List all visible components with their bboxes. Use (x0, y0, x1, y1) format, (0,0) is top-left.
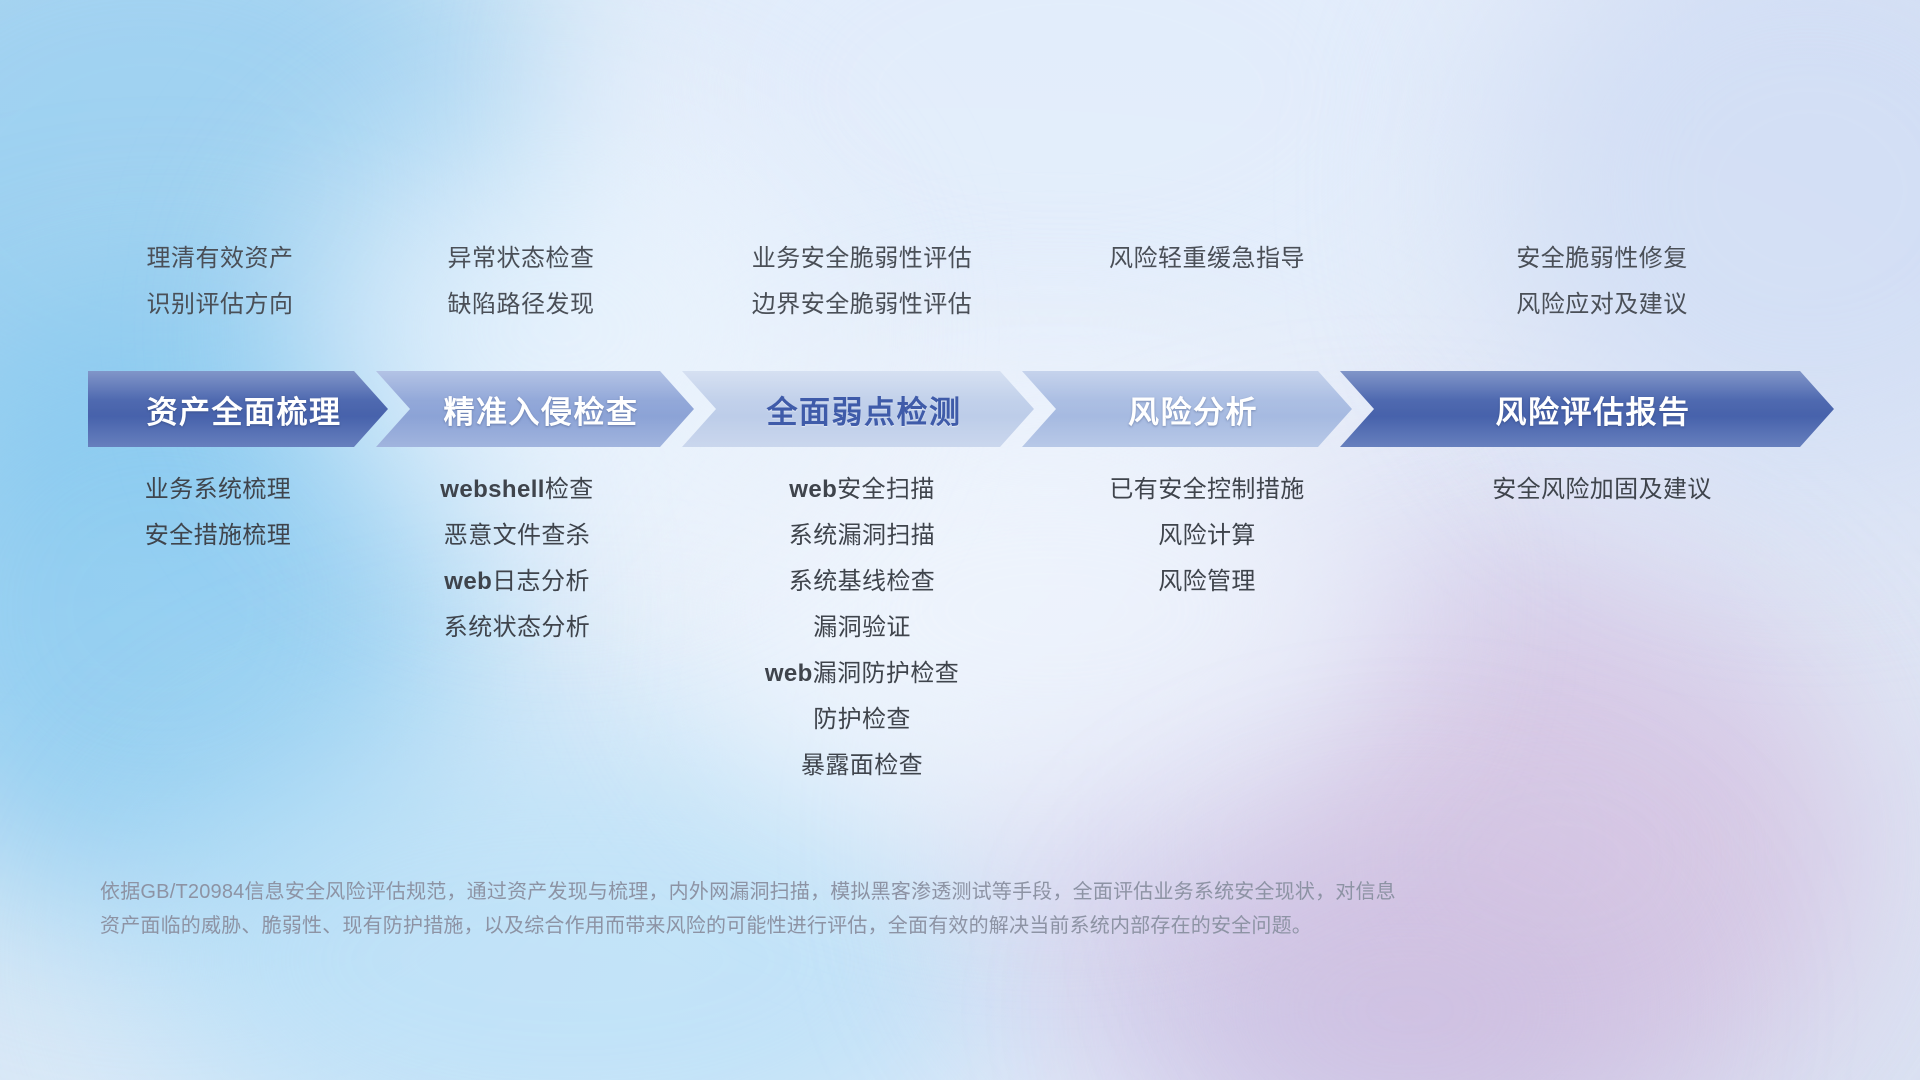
top-annotation-item: 风险轻重缓急指导 (1042, 236, 1372, 282)
footer-note: 依据GB/T20984信息安全风险评估规范，通过资产发现与梳理，内外网漏洞扫描，… (100, 875, 1640, 943)
bottom-detail-text: 漏洞验证 (813, 614, 911, 641)
footer-note-line: 资产面临的威胁、脆弱性、现有防护措施，以及综合作用而带来风险的可能性进行评估，全… (100, 909, 1640, 943)
bottom-detail-text: 安全风险加固及建议 (1492, 476, 1712, 503)
bottom-detail-item: 业务系统梳理 (82, 467, 354, 513)
top-annotation-item: 异常状态检查 (360, 236, 682, 282)
bottom-details-stage-5: 安全风险加固及建议 (1372, 467, 1832, 789)
bottom-detail-prefix: web (765, 660, 813, 687)
bottom-detail-item: 系统漏洞扫描 (682, 513, 1042, 559)
diagram-canvas: 理清有效资产 识别评估方向 异常状态检查 缺陷路径发现 业务安全脆弱性评估 边界… (0, 0, 1920, 1080)
bottom-detail-item: 暴露面检查 (682, 743, 1042, 789)
bottom-detail-item: 系统状态分析 (356, 605, 678, 651)
top-annotations-row: 理清有效资产 识别评估方向 异常状态检查 缺陷路径发现 业务安全脆弱性评估 边界… (88, 236, 1832, 328)
top-annotation-item: 安全脆弱性修复 (1372, 236, 1832, 282)
bottom-detail-text: 暴露面检查 (801, 752, 923, 779)
top-annotation-item: 边界安全脆弱性评估 (682, 282, 1042, 328)
bottom-detail-text: 已有安全控制措施 (1109, 476, 1304, 503)
chevron-stage-5[interactable]: 风险评估报告 (1340, 371, 1834, 447)
bottom-detail-item: 恶意文件查杀 (356, 513, 678, 559)
chevron-stage-2[interactable]: 精准入侵检查 (376, 371, 694, 447)
bottom-detail-text: 漏洞防护检查 (813, 660, 959, 687)
bottom-detail-text: 业务系统梳理 (145, 476, 291, 503)
top-annotation-item: 理清有效资产 (84, 236, 356, 282)
top-annotation-item: 风险应对及建议 (1372, 282, 1832, 328)
bottom-details-row: 业务系统梳理安全措施梳理 webshell检查恶意文件查杀web日志分析系统状态… (88, 467, 1832, 789)
top-annotation-item: 缺陷路径发现 (360, 282, 682, 328)
bottom-detail-text: 系统状态分析 (444, 614, 590, 641)
top-annotations-stage-4: 风险轻重缓急指导 (1042, 236, 1372, 328)
top-annotations-stage-2: 异常状态检查 缺陷路径发现 (360, 236, 682, 328)
bottom-detail-prefix: webshell (440, 476, 545, 503)
chevron-stage-1[interactable]: 资产全面梳理 (88, 371, 388, 447)
bottom-detail-prefix: web (444, 568, 492, 595)
bottom-detail-item: web安全扫描 (682, 467, 1042, 513)
bottom-detail-text: 恶意文件查杀 (444, 522, 590, 549)
bottom-detail-text: 系统基线检查 (789, 568, 935, 595)
chevron-stage-3[interactable]: 全面弱点检测 (682, 371, 1034, 447)
diagram-content: 理清有效资产 识别评估方向 异常状态检查 缺陷路径发现 业务安全脆弱性评估 边界… (0, 0, 1920, 1080)
chevron-stage-4[interactable]: 风险分析 (1022, 371, 1352, 447)
bottom-detail-item: webshell检查 (356, 467, 678, 513)
process-chevron-band: 资产全面梳理 精准入侵检查 全面弱点检测 风险分析 (88, 371, 1834, 447)
bottom-detail-item: web日志分析 (356, 559, 678, 605)
bottom-detail-prefix: web (789, 476, 837, 503)
bottom-detail-text: 系统漏洞扫描 (789, 522, 935, 549)
chevron-label: 风险分析 (1128, 387, 1258, 432)
chevron-label: 风险评估报告 (1496, 387, 1691, 432)
top-annotation-item: 识别评估方向 (84, 282, 356, 328)
bottom-details-stage-1: 业务系统梳理安全措施梳理 (82, 467, 354, 789)
bottom-detail-text: 风险计算 (1158, 522, 1256, 549)
bottom-detail-text: 检查 (545, 476, 594, 503)
chevron-label: 全面弱点检测 (767, 387, 962, 432)
bottom-details-stage-2: webshell检查恶意文件查杀web日志分析系统状态分析 (356, 467, 678, 789)
bottom-detail-item: 防护检查 (682, 697, 1042, 743)
top-annotations-stage-1: 理清有效资产 识别评估方向 (84, 236, 356, 328)
bottom-detail-item: 安全措施梳理 (82, 513, 354, 559)
bottom-detail-text: 日志分析 (492, 568, 590, 595)
bottom-detail-item: 已有安全控制措施 (1042, 467, 1372, 513)
footer-note-line: 依据GB/T20984信息安全风险评估规范，通过资产发现与梳理，内外网漏洞扫描，… (100, 875, 1640, 909)
top-annotation-item: 业务安全脆弱性评估 (682, 236, 1042, 282)
top-annotations-stage-3: 业务安全脆弱性评估 边界安全脆弱性评估 (682, 236, 1042, 328)
bottom-detail-item: 漏洞验证 (682, 605, 1042, 651)
chevron-label: 资产全面梳理 (147, 387, 342, 432)
bottom-details-stage-3: web安全扫描系统漏洞扫描系统基线检查漏洞验证web漏洞防护检查防护检查暴露面检… (682, 467, 1042, 789)
top-annotations-stage-5: 安全脆弱性修复 风险应对及建议 (1372, 236, 1832, 328)
bottom-detail-item: 风险管理 (1042, 559, 1372, 605)
bottom-details-stage-4: 已有安全控制措施风险计算风险管理 (1042, 467, 1372, 789)
chevron-label: 精准入侵检查 (444, 387, 639, 432)
bottom-detail-item: 风险计算 (1042, 513, 1372, 559)
bottom-detail-text: 安全扫描 (837, 476, 935, 503)
bottom-detail-item: 安全风险加固及建议 (1372, 467, 1832, 513)
bottom-detail-text: 安全措施梳理 (145, 522, 291, 549)
bottom-detail-text: 防护检查 (813, 706, 911, 733)
bottom-detail-item: 系统基线检查 (682, 559, 1042, 605)
bottom-detail-text: 风险管理 (1158, 568, 1256, 595)
bottom-detail-item: web漏洞防护检查 (682, 651, 1042, 697)
